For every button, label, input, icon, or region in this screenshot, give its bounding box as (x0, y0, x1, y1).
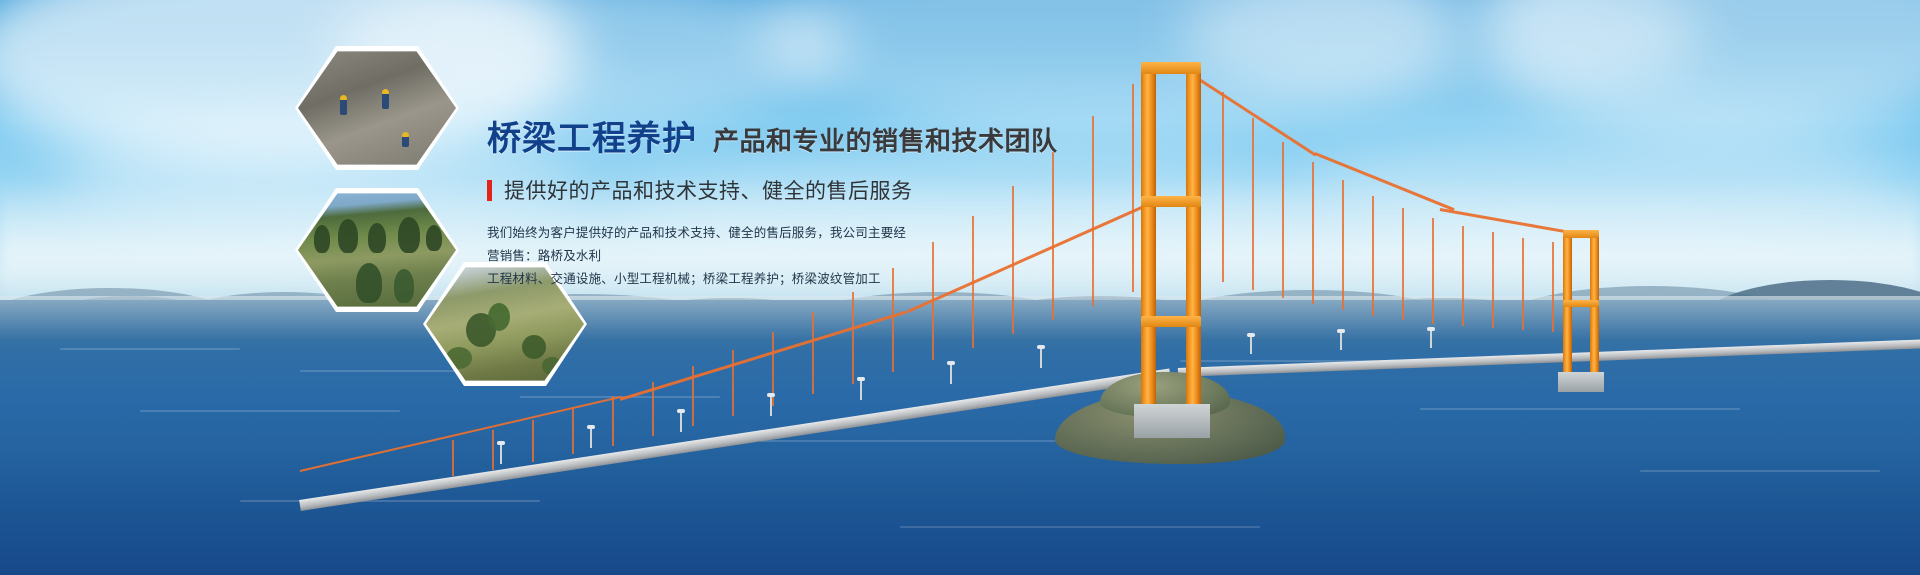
accent-bar (487, 180, 492, 201)
banner-subheadline: 提供好的产品和技术支持、健全的售后服务 (504, 175, 913, 205)
banner-headline: 桥梁工程养护 产品和专业的销售和技术团队 (487, 122, 1047, 156)
banner-subheadline-row: 提供好的产品和技术支持、健全的售后服务 (487, 175, 1047, 205)
banner-paragraph: 我们始终为客户提供好的产品和技术支持、健全的售后服务，我公司主要经营销售：路桥及… (487, 222, 907, 291)
banner-copy: 桥梁工程养护 产品和专业的销售和技术团队 提供好的产品和技术支持、健全的售后服务… (487, 122, 1047, 291)
headline-primary: 桥梁工程养护 (487, 122, 697, 156)
hex-photo-rock-slope-mesh-installation[interactable] (298, 49, 456, 167)
paragraph-line-1: 我们始终为客户提供好的产品和技术支持、健全的售后服务，我公司主要经营销售：路桥及… (487, 222, 907, 268)
bridge-tower-main (1141, 62, 1156, 412)
headline-secondary: 产品和专业的销售和技术团队 (713, 128, 1058, 156)
photo-rock-slope-mesh (298, 49, 456, 167)
bridge-deck (1178, 339, 1920, 377)
hex-photo-hillside-slope-protection[interactable] (298, 191, 456, 309)
bridge-tower-main (1186, 62, 1201, 412)
photo-hillside-slope (298, 191, 456, 309)
paragraph-line-2: 工程材料、交通设施、小型工程机械；桥梁工程养护；桥梁波纹管加工 (487, 268, 907, 291)
hero-banner: 桥梁工程养护 产品和专业的销售和技术团队 提供好的产品和技术支持、健全的售后服务… (0, 0, 1920, 575)
